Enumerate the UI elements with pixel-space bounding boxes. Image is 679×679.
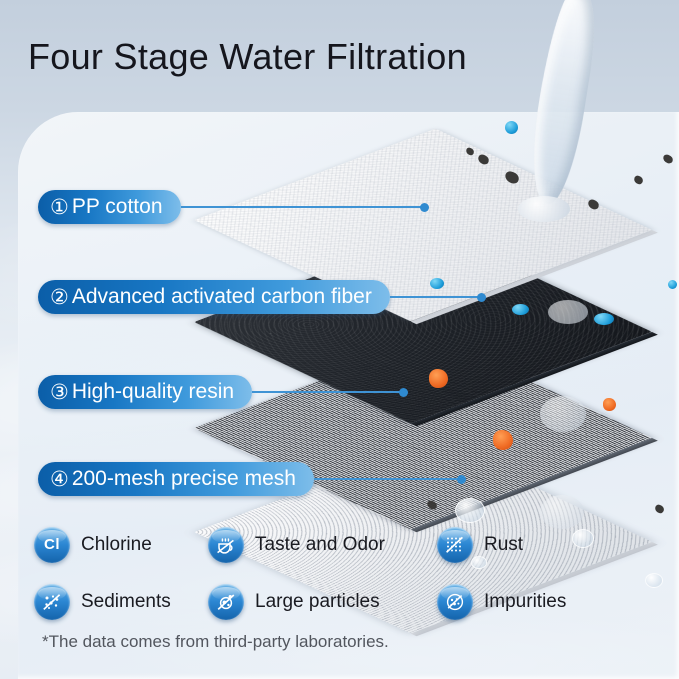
stage-knob-3 bbox=[399, 388, 408, 397]
stage-pill-1[interactable]: ① PP cotton bbox=[38, 190, 181, 224]
stage-callout-3[interactable]: ③ High-quality resin bbox=[38, 375, 408, 409]
stage-label-3: High-quality resin bbox=[72, 380, 234, 404]
stage-number-3: ③ bbox=[50, 382, 69, 403]
stage-number-4: ④ bbox=[50, 469, 69, 490]
stage-pill-2[interactable]: ② Advanced activated carbon fiber bbox=[38, 280, 390, 314]
benefit-label-large-particles: Large particles bbox=[255, 591, 380, 613]
sediments-icon bbox=[34, 584, 70, 620]
benefit-label-sediments: Sediments bbox=[81, 591, 171, 613]
stage-knob-4 bbox=[457, 475, 466, 484]
stage-pill-4[interactable]: ④ 200-mesh precise mesh bbox=[38, 462, 314, 496]
water-splash bbox=[548, 300, 588, 324]
rust-icon bbox=[437, 527, 473, 563]
stage-callout-4[interactable]: ④ 200-mesh precise mesh bbox=[38, 462, 466, 496]
infographic-canvas: Four Stage Water Filtration ① PP cotton … bbox=[0, 0, 679, 679]
benefit-rust[interactable]: Rust bbox=[437, 527, 523, 563]
benefits-row: Sediments Large particles bbox=[34, 573, 634, 630]
large-particles-icon bbox=[208, 584, 244, 620]
benefit-label-chlorine: Chlorine bbox=[81, 534, 152, 556]
benefit-chlorine[interactable]: Cl Chlorine bbox=[34, 527, 208, 563]
impurities-icon bbox=[437, 584, 473, 620]
stage-callout-1[interactable]: ① PP cotton bbox=[38, 190, 429, 224]
benefit-impurities[interactable]: Impurities bbox=[437, 584, 566, 620]
stage-number-2: ② bbox=[50, 287, 69, 308]
benefit-label-taste-odor: Taste and Odor bbox=[255, 534, 385, 556]
stage-connector-3 bbox=[252, 391, 400, 393]
stage-connector-2 bbox=[390, 296, 478, 298]
water-splash bbox=[540, 396, 586, 432]
chlorine-icon: Cl bbox=[34, 527, 70, 563]
stage-label-4: 200-mesh precise mesh bbox=[72, 467, 296, 491]
stage-pill-3[interactable]: ③ High-quality resin bbox=[38, 375, 252, 409]
water-splash bbox=[518, 196, 570, 222]
chlorine-symbol: Cl bbox=[44, 537, 60, 552]
footnote: *The data comes from third-party laborat… bbox=[42, 632, 389, 652]
stage-label-1: PP cotton bbox=[72, 195, 163, 219]
benefits-row: Cl Chlorine Taste and Odor bbox=[34, 516, 634, 573]
stage-connector-1 bbox=[181, 206, 421, 208]
benefit-label-impurities: Impurities bbox=[484, 591, 566, 613]
taste-odor-icon bbox=[208, 527, 244, 563]
stage-number-1: ① bbox=[50, 197, 69, 218]
benefit-label-rust: Rust bbox=[484, 534, 523, 556]
page-title: Four Stage Water Filtration bbox=[28, 36, 467, 78]
stage-connector-4 bbox=[314, 478, 458, 480]
benefit-sediments[interactable]: Sediments bbox=[34, 584, 208, 620]
benefit-taste-odor[interactable]: Taste and Odor bbox=[208, 527, 437, 563]
benefit-large-particles[interactable]: Large particles bbox=[208, 584, 437, 620]
benefits-grid: Cl Chlorine Taste and Odor bbox=[34, 516, 634, 630]
stage-knob-1 bbox=[420, 203, 429, 212]
stage-knob-2 bbox=[477, 293, 486, 302]
stage-label-2: Advanced activated carbon fiber bbox=[72, 285, 372, 309]
stage-callout-2[interactable]: ② Advanced activated carbon fiber bbox=[38, 280, 486, 314]
